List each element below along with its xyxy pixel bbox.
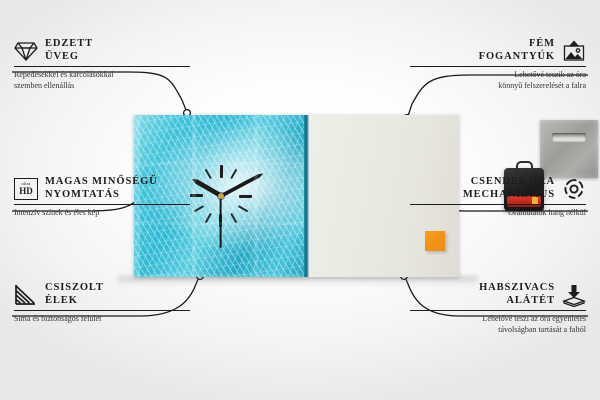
callout-title: CSENDES ÓRAMECHANIZMUS bbox=[463, 176, 555, 201]
callout-description: Sima és biztonságos felület bbox=[14, 314, 190, 325]
callout-rule bbox=[14, 310, 190, 311]
clock-minute-hand bbox=[220, 172, 264, 198]
ultra-hd-icon-big-text: HD bbox=[19, 187, 33, 196]
clock-center-cap bbox=[218, 193, 224, 199]
clock-tick-8 bbox=[194, 180, 249, 213]
callout-title: HABSZIVACSALÁTÉT bbox=[479, 282, 555, 307]
hatched-edge-icon bbox=[14, 283, 38, 307]
clock-tick-3 bbox=[190, 195, 252, 197]
panel-seam bbox=[304, 115, 309, 277]
callout-description: Lehetővé teszik az órakönnyű felszerelés… bbox=[410, 70, 586, 91]
callout-header: EDZETTÜVEG bbox=[14, 38, 190, 63]
clock-tick-2 bbox=[194, 180, 249, 213]
callout-title: CSISZOLTÉLEK bbox=[45, 282, 104, 307]
callout-rule bbox=[14, 66, 190, 67]
callout-title: FÉMFOGANTYÚK bbox=[479, 38, 555, 63]
callout-rule bbox=[14, 204, 190, 205]
clock-tick-9 bbox=[190, 195, 252, 197]
callout-header: CSISZOLTÉLEK bbox=[14, 282, 190, 307]
callout-title: EDZETTÜVEG bbox=[45, 38, 93, 63]
callout-header: FÉMFOGANTYÚK bbox=[410, 38, 586, 63]
picture-frame-icon bbox=[562, 39, 586, 63]
diamond-icon bbox=[14, 39, 38, 63]
clock-hour-hand bbox=[190, 177, 222, 198]
foam-pad-arrow-icon bbox=[562, 283, 586, 307]
clock-tick-11 bbox=[205, 169, 238, 224]
callout-polished-edges: CSISZOLTÉLEK Sima és biztonságos felület bbox=[14, 282, 190, 325]
callout-metal-handles: FÉMFOGANTYÚK Lehetővé teszik az órakönny… bbox=[410, 38, 586, 91]
callout-silent-mechanism: CSENDES ÓRAMECHANIZMUS Óramutatók hang n… bbox=[410, 176, 586, 219]
foam-pad bbox=[425, 231, 445, 251]
callout-description: Lehetővé teszi az óra egyenletestávolság… bbox=[410, 314, 586, 335]
clock-tick-1 bbox=[205, 169, 238, 224]
callout-foam-pad: HABSZIVACSALÁTÉT Lehetővé teszi az óra e… bbox=[410, 282, 586, 335]
callout-header: ultra HD MAGAS MINŐSÉGŰNYOMTATÁS bbox=[14, 176, 190, 201]
callout-header: CSENDES ÓRAMECHANIZMUS bbox=[410, 176, 586, 201]
clock-tick-4 bbox=[194, 180, 249, 213]
callout-description: Óramutatók hang nélkül bbox=[410, 208, 586, 219]
clock-second-hand bbox=[220, 196, 222, 248]
callout-rule bbox=[410, 310, 586, 311]
callout-high-quality-print: ultra HD MAGAS MINŐSÉGŰNYOMTATÁS Intenzí… bbox=[14, 176, 190, 219]
clock-tick-5 bbox=[205, 169, 238, 224]
ultra-hd-icon: ultra HD bbox=[14, 177, 38, 201]
callout-title: MAGAS MINŐSÉGŰNYOMTATÁS bbox=[45, 176, 158, 201]
metal-keyhole-hanger bbox=[540, 120, 598, 178]
callout-description: Repedésekkel és karcolásokkalszemben ell… bbox=[14, 70, 190, 91]
clock-tick-7 bbox=[205, 169, 238, 224]
clock-tick-12 bbox=[220, 165, 222, 227]
clock-tick-6 bbox=[220, 165, 222, 227]
callout-header: HABSZIVACSALÁTÉT bbox=[410, 282, 586, 307]
callout-description: Intenzív színek és éles kép bbox=[14, 208, 190, 219]
infographic-canvas: EDZETTÜVEG Repedésekkel és karcolásokkal… bbox=[0, 0, 600, 400]
callout-tempered-glass: EDZETTÜVEG Repedésekkel és karcolásokkal… bbox=[14, 38, 190, 91]
callout-rule bbox=[410, 66, 586, 67]
clock-tick-10 bbox=[194, 180, 249, 213]
gear-icon bbox=[562, 177, 586, 201]
callout-rule bbox=[410, 204, 586, 205]
